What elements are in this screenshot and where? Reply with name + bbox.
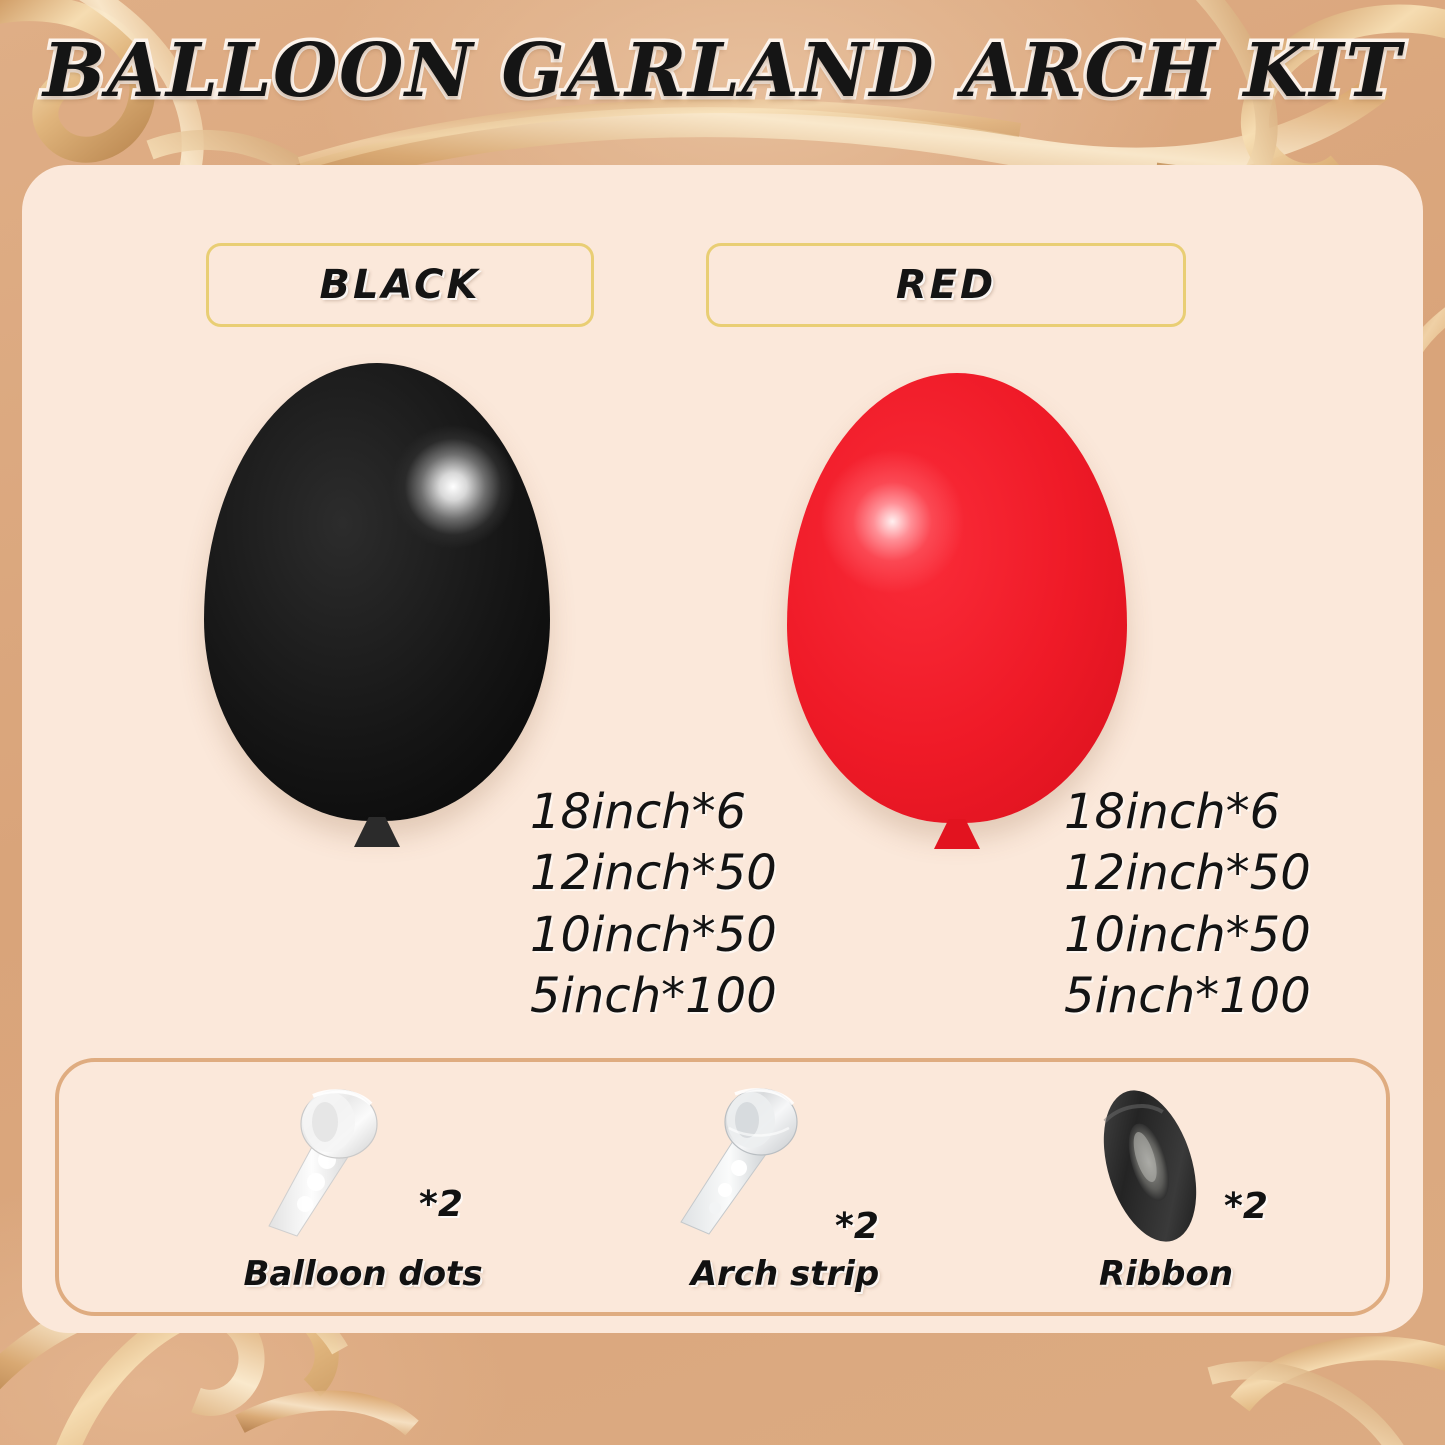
accessories-panel: *2 Balloon dots [55,1058,1390,1316]
accessory-balloon-dots: *2 Balloon dots [167,1062,607,1312]
color-label-black-text: BLACK [319,262,480,308]
spec-line: 5inch*100 [530,966,777,1027]
spec-line: 18inch*6 [530,782,777,843]
spec-line: 5inch*100 [1064,966,1311,1027]
spec-line: 12inch*50 [1064,843,1311,904]
spec-line: 12inch*50 [530,843,777,904]
spec-list-red: 18inch*6 12inch*50 10inch*50 5inch*100 [1064,782,1311,1028]
color-label-red[interactable]: RED [706,243,1186,327]
product-infographic: BALLOON GARLAND ARCH KIT BLACK RED 18inc… [0,0,1445,1445]
ribbon-spool-icon [1060,1076,1240,1254]
accessory-ribbon: *2 Ribbon [974,1062,1414,1312]
color-label-red-text: RED [896,262,996,308]
spec-line: 10inch*50 [1064,905,1311,966]
accessory-quantity: *2 [419,1184,463,1225]
glue-dot-tape-roll-icon [253,1076,433,1254]
spec-line: 18inch*6 [1064,782,1311,843]
accessory-label: Balloon dots [143,1254,583,1294]
arch-strip-roll-icon [673,1076,853,1254]
accessory-quantity: *2 [835,1206,879,1247]
color-label-black[interactable]: BLACK [206,243,594,327]
accessory-quantity: *2 [1224,1186,1268,1227]
spec-list-black: 18inch*6 12inch*50 10inch*50 5inch*100 [530,782,777,1028]
page-title: BALLOON GARLAND ARCH KIT [0,28,1445,114]
spec-line: 10inch*50 [530,905,777,966]
accessory-label: Arch strip [565,1254,1005,1294]
accessory-label: Ribbon [946,1254,1386,1294]
